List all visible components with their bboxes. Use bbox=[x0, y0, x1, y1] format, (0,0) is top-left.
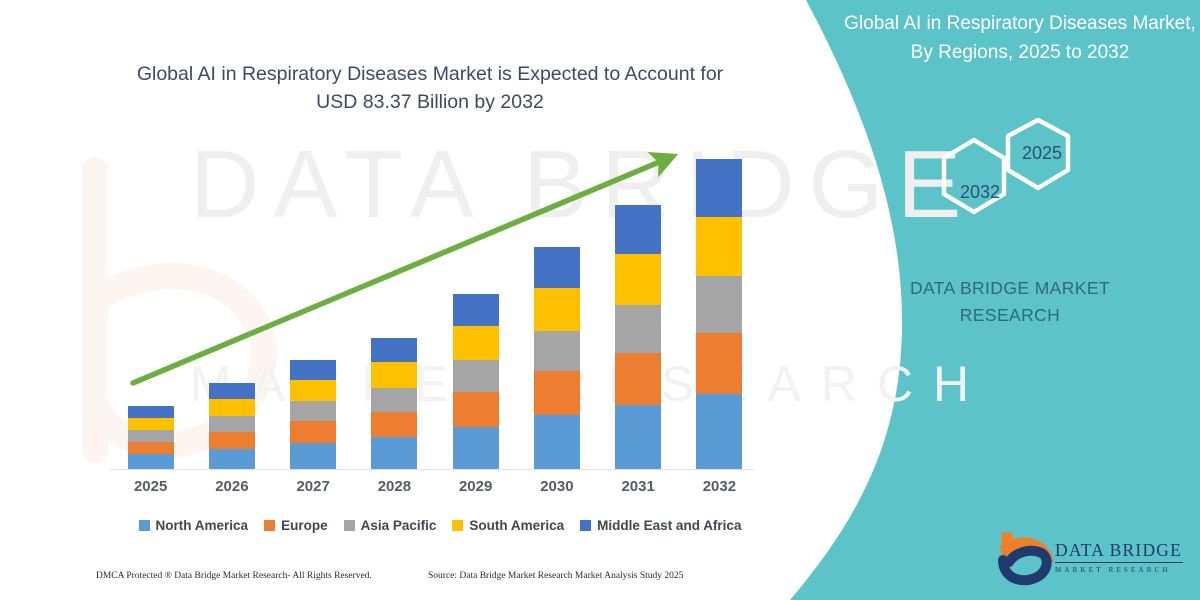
segment-2025-south-america[interactable] bbox=[128, 418, 174, 430]
segment-2027-asia-pacific[interactable] bbox=[290, 401, 336, 421]
logo-wordmark: DATA BRIDGE MARKET RESEARCH bbox=[1055, 540, 1183, 574]
legend-swatch-icon bbox=[452, 520, 463, 531]
x-label-2027: 2027 bbox=[278, 478, 348, 495]
axis-baseline bbox=[110, 469, 755, 470]
segment-2025-north-america[interactable] bbox=[128, 454, 174, 470]
source-notice: Source: Data Bridge Market Research Mark… bbox=[428, 571, 683, 581]
legend-swatch-icon bbox=[139, 520, 150, 531]
bar-2029[interactable] bbox=[453, 294, 499, 470]
legend-item-asia-pacific[interactable]: Asia Pacific bbox=[344, 518, 437, 533]
segment-2030-asia-pacific[interactable] bbox=[534, 331, 580, 372]
bar-2031[interactable] bbox=[615, 205, 661, 470]
bar-2028[interactable] bbox=[371, 338, 417, 470]
x-label-2032: 2032 bbox=[684, 478, 754, 495]
segment-2028-asia-pacific[interactable] bbox=[371, 388, 417, 412]
hexagon-2032-label: 2032 bbox=[960, 182, 1000, 203]
segment-2026-south-america[interactable] bbox=[209, 399, 255, 416]
segment-2027-europe[interactable] bbox=[290, 421, 336, 442]
x-label-2031: 2031 bbox=[603, 478, 673, 495]
brand-line-2: RESEARCH bbox=[840, 302, 1180, 329]
brand-line-1: DATA BRIDGE MARKET bbox=[840, 275, 1180, 302]
x-label-2029: 2029 bbox=[441, 478, 511, 495]
bar-2032[interactable] bbox=[696, 159, 742, 470]
legend-label: Europe bbox=[281, 518, 328, 533]
bar-2030[interactable] bbox=[534, 247, 580, 470]
segment-2030-middle-east-and-africa[interactable] bbox=[534, 247, 580, 288]
segment-2031-middle-east-and-africa[interactable] bbox=[615, 205, 661, 254]
segment-2026-europe[interactable] bbox=[209, 432, 255, 449]
legend-label: Asia Pacific bbox=[361, 518, 437, 533]
segment-2028-south-america[interactable] bbox=[371, 362, 417, 387]
segment-2026-asia-pacific[interactable] bbox=[209, 416, 255, 432]
legend-item-south-america[interactable]: South America bbox=[452, 518, 564, 533]
x-axis-labels: 20252026202720282029203020312032 bbox=[110, 478, 760, 502]
segment-2027-north-america[interactable] bbox=[290, 443, 336, 470]
legend-item-middle-east-and-africa[interactable]: Middle East and Africa bbox=[580, 518, 741, 533]
segment-2027-south-america[interactable] bbox=[290, 380, 336, 401]
legend-swatch-icon bbox=[344, 520, 355, 531]
logo-swoosh-navy bbox=[1003, 551, 1047, 581]
panel-heading: Global AI in Respiratory Diseases Market… bbox=[840, 10, 1200, 67]
legend-item-north-america[interactable]: North America bbox=[139, 518, 249, 533]
stacked-bar-plot bbox=[110, 140, 760, 470]
logo-sub-text: MARKET RESEARCH bbox=[1055, 566, 1183, 574]
legend-swatch-icon bbox=[580, 520, 591, 531]
segment-2029-middle-east-and-africa[interactable] bbox=[453, 294, 499, 326]
bar-2026[interactable] bbox=[209, 383, 255, 470]
segment-2032-north-america[interactable] bbox=[696, 394, 742, 470]
chart-legend: North AmericaEuropeAsia PacificSouth Ame… bbox=[110, 518, 770, 533]
x-label-2028: 2028 bbox=[359, 478, 429, 495]
segment-2031-south-america[interactable] bbox=[615, 254, 661, 305]
segment-2029-europe[interactable] bbox=[453, 392, 499, 427]
segment-2029-asia-pacific[interactable] bbox=[453, 360, 499, 392]
segment-2030-south-america[interactable] bbox=[534, 288, 580, 331]
brand-name: DATA BRIDGE MARKET RESEARCH bbox=[840, 275, 1180, 329]
logo-divider bbox=[1055, 562, 1183, 563]
chart-region: Global AI in Respiratory Diseases Market… bbox=[0, 0, 800, 600]
legend-label: South America bbox=[469, 518, 564, 533]
hexagon-2025-label: 2025 bbox=[1022, 143, 1062, 164]
segment-2032-middle-east-and-africa[interactable] bbox=[696, 159, 742, 217]
segment-2031-asia-pacific[interactable] bbox=[615, 305, 661, 353]
page-title: Global AI in Respiratory Diseases Market… bbox=[120, 60, 740, 117]
legend-label: Middle East and Africa bbox=[597, 518, 741, 533]
segment-2028-europe[interactable] bbox=[371, 412, 417, 438]
segment-2032-europe[interactable] bbox=[696, 333, 742, 394]
segment-2027-middle-east-and-africa[interactable] bbox=[290, 360, 336, 380]
segment-2026-middle-east-and-africa[interactable] bbox=[209, 383, 255, 399]
segment-2025-europe[interactable] bbox=[128, 442, 174, 454]
segment-2029-north-america[interactable] bbox=[453, 427, 499, 470]
segment-2028-middle-east-and-africa[interactable] bbox=[371, 338, 417, 362]
segment-2032-asia-pacific[interactable] bbox=[696, 276, 742, 332]
segment-2030-europe[interactable] bbox=[534, 371, 580, 415]
legend-swatch-icon bbox=[264, 520, 275, 531]
segment-2032-south-america[interactable] bbox=[696, 217, 742, 277]
segment-2028-north-america[interactable] bbox=[371, 437, 417, 470]
logo-main-text: DATA BRIDGE bbox=[1055, 540, 1183, 561]
hexagon-badges bbox=[910, 118, 1130, 248]
segment-2025-asia-pacific[interactable] bbox=[128, 430, 174, 442]
copyright-notice: DMCA Protected ® Data Bridge Market Rese… bbox=[96, 571, 372, 581]
segment-2031-europe[interactable] bbox=[615, 353, 661, 405]
x-label-2025: 2025 bbox=[116, 478, 186, 495]
x-label-2026: 2026 bbox=[197, 478, 267, 495]
segment-2031-north-america[interactable] bbox=[615, 405, 661, 470]
legend-item-europe[interactable]: Europe bbox=[264, 518, 328, 533]
legend-label: North America bbox=[156, 518, 249, 533]
segment-2029-south-america[interactable] bbox=[453, 326, 499, 360]
x-label-2030: 2030 bbox=[522, 478, 592, 495]
side-panel-content: Global AI in Respiratory Diseases Market… bbox=[800, 0, 1200, 600]
footer-bar: DMCA Protected ® Data Bridge Market Rese… bbox=[0, 568, 800, 592]
segment-2025-middle-east-and-africa[interactable] bbox=[128, 406, 174, 418]
bar-2027[interactable] bbox=[290, 360, 336, 470]
segment-2030-north-america[interactable] bbox=[534, 415, 580, 470]
segment-2026-north-america[interactable] bbox=[209, 449, 255, 470]
bar-2025[interactable] bbox=[128, 406, 174, 470]
